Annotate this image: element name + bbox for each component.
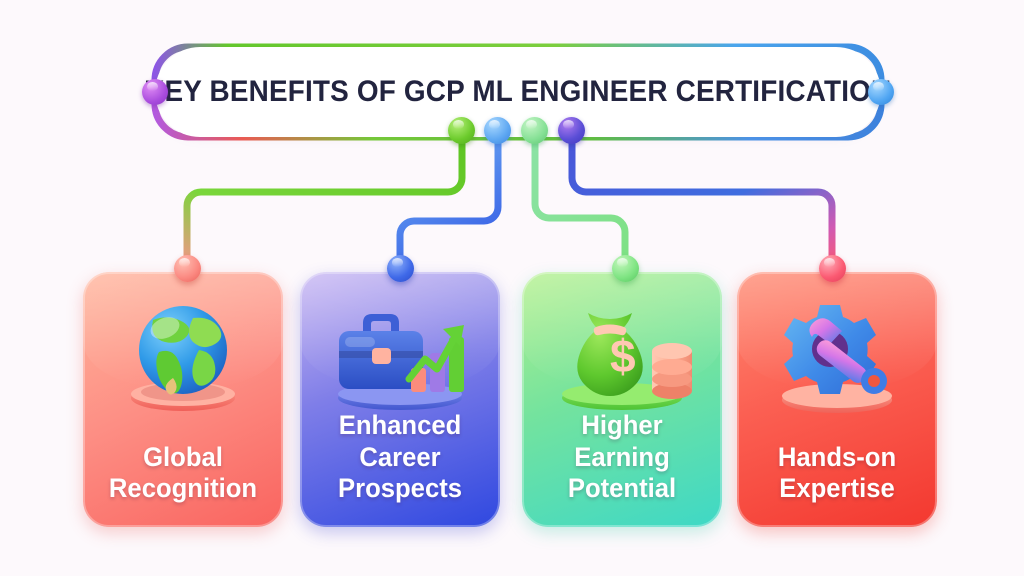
wire-to-global-recognition [187, 131, 462, 269]
benefit-card-hands-on-expertise[interactable]: Hands-on Expertise [737, 272, 937, 527]
benefit-card-career-prospects[interactable]: Enhanced Career Prospects [300, 272, 500, 527]
gear-wrench-icon [737, 288, 937, 428]
wire-to-hands-on-expertise [572, 131, 832, 269]
globe-icon [83, 288, 283, 428]
title-node-right [868, 79, 894, 105]
card-label-global-recognition: Global Recognition [96, 442, 271, 505]
card-node-career [387, 255, 414, 282]
card-label-career-prospects: Enhanced Career Prospects [313, 410, 488, 505]
card-node-handson [819, 255, 846, 282]
wire-to-career-prospects [400, 131, 498, 269]
card-node-earning [612, 255, 639, 282]
page-title: KEY BENEFITS OF GCP ML ENGINEER CERTIFIC… [144, 75, 891, 109]
title-banner: KEY BENEFITS OF GCP ML ENGINEER CERTIFIC… [155, 47, 881, 137]
infographic-canvas: KEY BENEFITS OF GCP ML ENGINEER CERTIFIC… [0, 0, 1024, 576]
card-label-earning-potential: Higher Earning Potential [535, 410, 710, 505]
hub-node-green [448, 117, 475, 144]
wire-to-earning-potential [535, 131, 625, 269]
hub-node-blue [484, 117, 511, 144]
hub-node-purple [558, 117, 585, 144]
briefcase-growth-chart-icon [300, 288, 500, 428]
card-label-hands-on-expertise: Hands-on Expertise [750, 442, 925, 505]
hub-node-mint [521, 117, 548, 144]
benefit-card-earning-potential[interactable]: $ Higher Earning Potential [522, 272, 722, 527]
money-bag-coins-icon: $ [522, 288, 722, 428]
card-node-global [174, 255, 201, 282]
title-node-left [142, 79, 168, 105]
svg-text:$: $ [610, 330, 636, 382]
benefit-card-global-recognition[interactable]: Global Recognition [83, 272, 283, 527]
